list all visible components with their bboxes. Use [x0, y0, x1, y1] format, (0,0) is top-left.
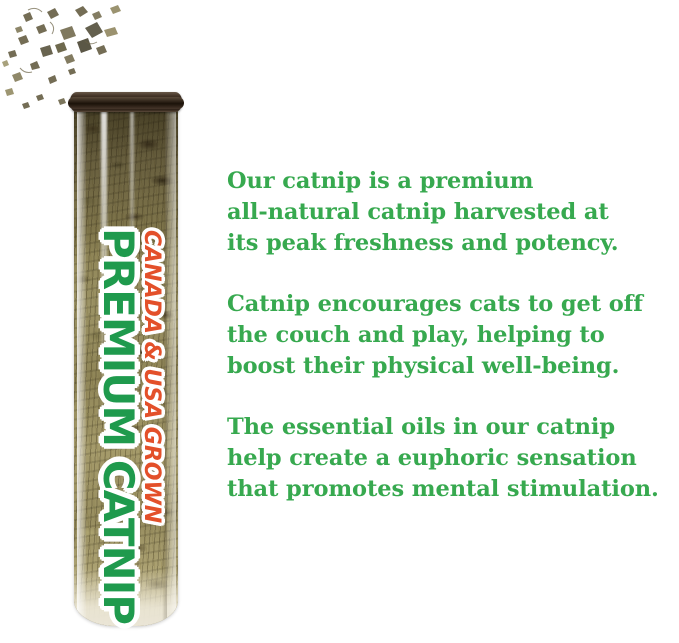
product-marketing-image: CANADA & USA GROWN PREMIUM CATNIP Our ca… — [0, 0, 679, 643]
glass-highlight-right — [165, 108, 176, 626]
copy-line: Our catnip is a premium — [227, 166, 675, 197]
paragraph-play: Catnip encourages cats to get off the co… — [227, 289, 675, 382]
glass-highlight-center — [101, 108, 107, 408]
marketing-copy: Our catnip is a premium all-natural catn… — [227, 166, 675, 505]
tube-cap-lip — [68, 97, 184, 109]
copy-line: the couch and play, helping to — [227, 320, 675, 351]
copy-line: all-natural catnip harvested at — [227, 197, 675, 228]
copy-line: its peak freshness and potency. — [227, 228, 675, 259]
copy-line: help create a euphoric sensation — [227, 443, 675, 474]
copy-line: boost their physical well-being. — [227, 351, 675, 382]
glass-highlight-center-2 — [130, 108, 134, 358]
copy-line: The essential oils in our catnip — [227, 412, 675, 443]
paragraph-premium: Our catnip is a premium all-natural catn… — [227, 166, 675, 259]
catnip-tube: CANADA & USA GROWN PREMIUM CATNIP — [68, 92, 184, 630]
glass-highlight-left — [77, 108, 86, 626]
copy-line: Catnip encourages cats to get off — [227, 289, 675, 320]
tube-body — [74, 108, 178, 626]
copy-line: that promotes mental stimulation. — [227, 474, 675, 505]
paragraph-oils: The essential oils in our catnip help cr… — [227, 412, 675, 505]
